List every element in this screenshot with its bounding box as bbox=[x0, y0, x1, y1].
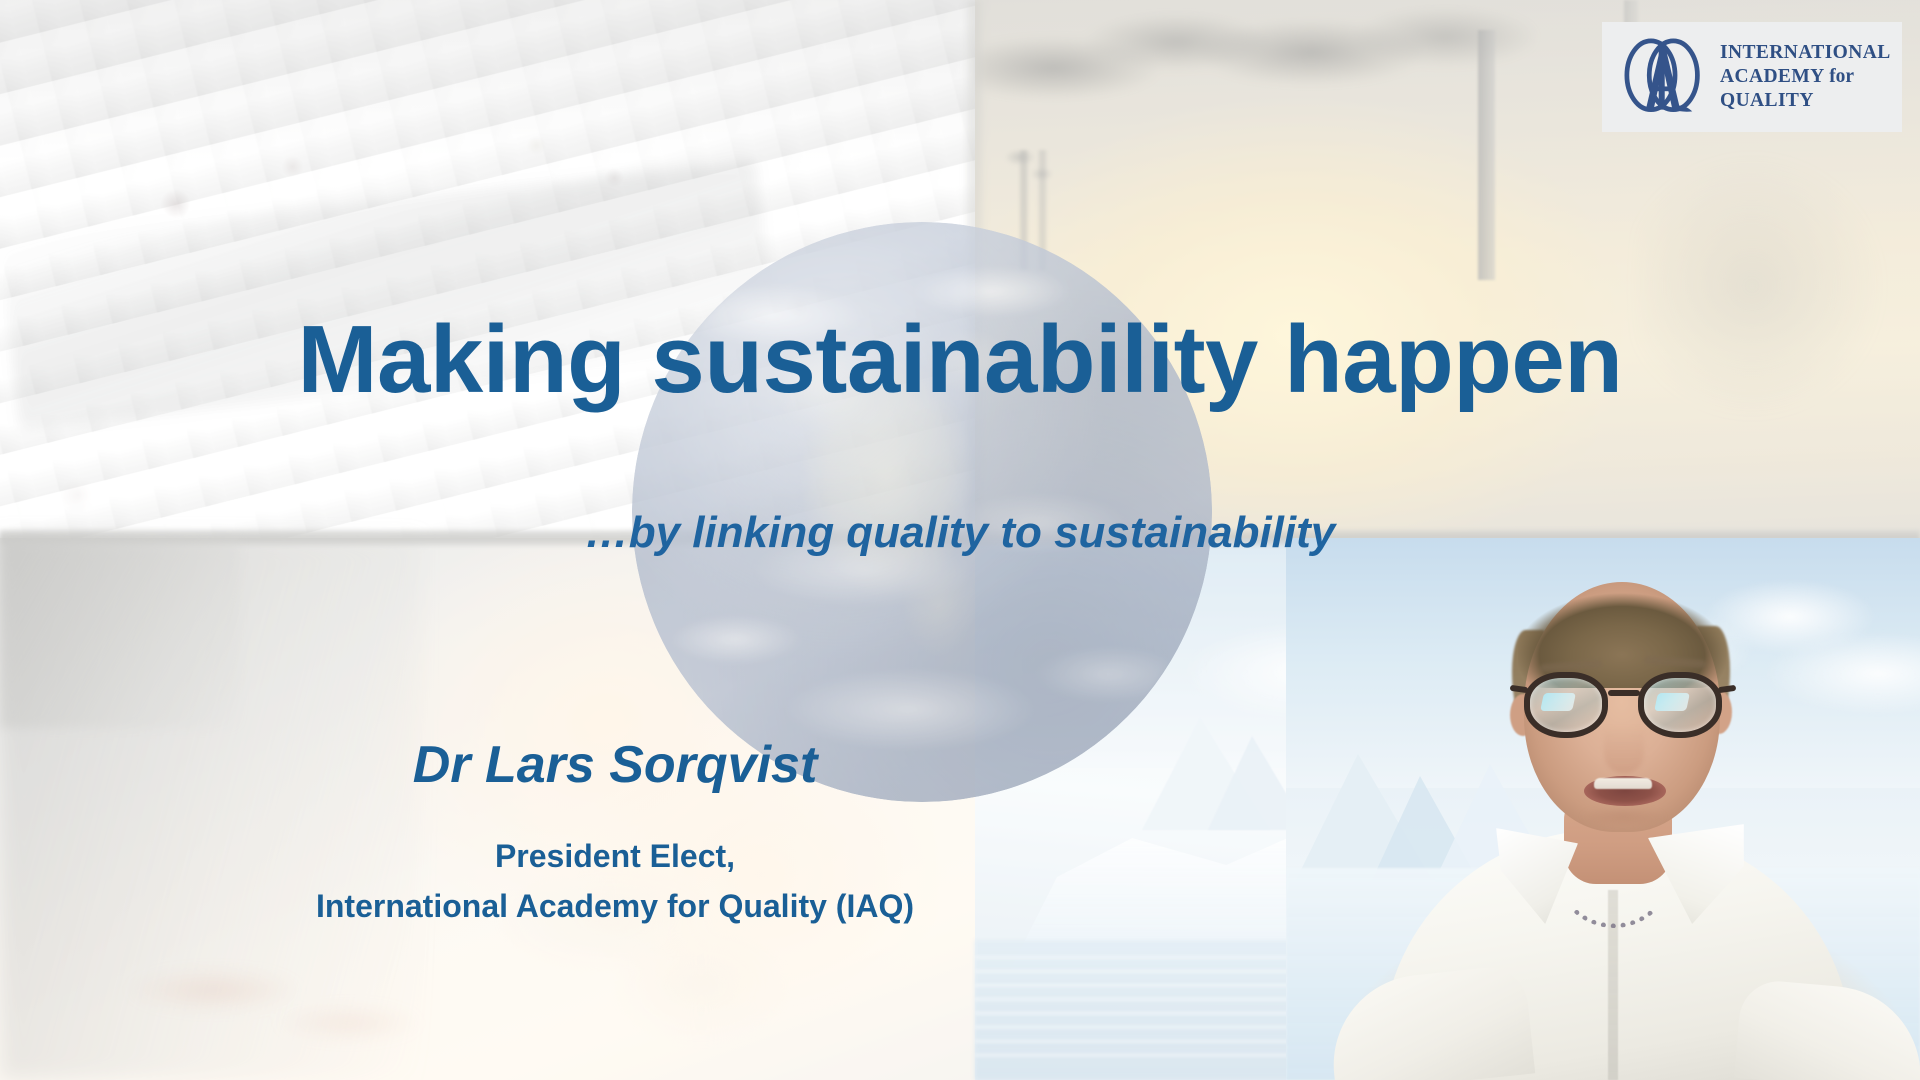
speaker-nose bbox=[1604, 726, 1644, 774]
presenter-role: President Elect, International Academy f… bbox=[0, 832, 1230, 931]
eyeglass-bridge bbox=[1608, 690, 1640, 696]
logo-line-international: INTERNATIONAL bbox=[1720, 41, 1891, 65]
presenter-name: Dr Lars Sorqvist bbox=[0, 735, 1230, 795]
webcam-video-panel[interactable] bbox=[1286, 538, 1920, 1080]
iaq-monogram-icon bbox=[1620, 32, 1706, 122]
logo-line-quality: QUALITY bbox=[1720, 89, 1891, 113]
smoke-plume bbox=[975, 0, 1535, 120]
lens-glare-left bbox=[1540, 693, 1576, 711]
smokestack-pipe bbox=[1478, 30, 1495, 280]
slide-subtitle: …by linking quality to sustainability bbox=[0, 508, 1920, 558]
eyeglass-lens-right bbox=[1638, 672, 1722, 738]
slide-title: Making sustainability happen bbox=[0, 310, 1920, 411]
presenter-role-line-2: International Academy for Quality (IAQ) bbox=[0, 882, 1230, 932]
logo-word-for: for bbox=[1829, 66, 1854, 87]
lens-glare-right bbox=[1654, 693, 1690, 711]
collage-left-grey-band bbox=[0, 538, 240, 728]
iaq-logo-text: INTERNATIONAL ACADEMY for QUALITY bbox=[1720, 41, 1891, 112]
eyeglass-temple-right bbox=[1718, 685, 1737, 693]
speaker-teeth bbox=[1594, 778, 1652, 789]
logo-line-academy-for: ACADEMY for bbox=[1720, 65, 1891, 89]
child-hands bbox=[130, 930, 550, 1080]
presentation-slide: INTERNATIONAL ACADEMY for QUALITY Making… bbox=[0, 0, 1920, 1080]
speaker-chin-shadow bbox=[1568, 806, 1678, 832]
webcam-speaker-figure bbox=[1286, 538, 1920, 1080]
iaq-logo: INTERNATIONAL ACADEMY for QUALITY bbox=[1602, 22, 1902, 132]
logo-word-academy: ACADEMY bbox=[1720, 66, 1824, 87]
eyeglass-lens-left bbox=[1524, 672, 1608, 738]
presenter-role-line-1: President Elect, bbox=[0, 832, 1230, 882]
